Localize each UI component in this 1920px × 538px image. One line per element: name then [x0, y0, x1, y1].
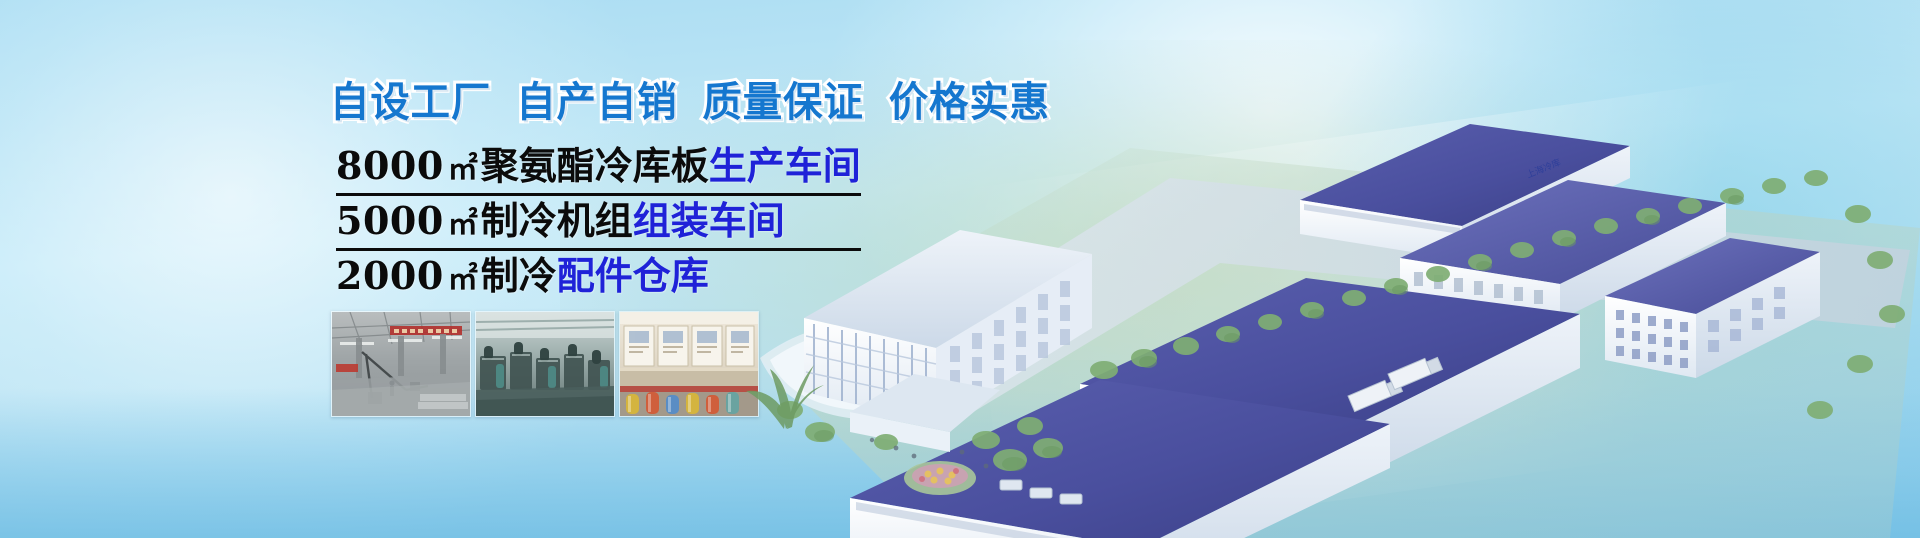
feature-line-3-highlight: 配件仓库	[557, 253, 709, 298]
feature-line-1-highlight: 生产车间	[709, 143, 861, 188]
feature-line-2-highlight: 组装车间	[633, 198, 785, 243]
headline-segment-3: 质量保证	[702, 78, 863, 126]
feature-line-3-number: 2000	[336, 253, 444, 298]
showroom-display-cabinets-photo	[619, 311, 759, 417]
refrigeration-compressor-units-photo	[475, 311, 615, 417]
feature-list: 8000㎡聚氨酯冷库板生产车间 5000㎡制冷机组组装车间 2000㎡制冷配件仓…	[336, 144, 861, 303]
feature-line-1-text: 聚氨酯冷库板	[481, 143, 709, 188]
headline: 自设工厂自产自销质量保证价格实惠	[330, 68, 1050, 128]
feature-line-3: 2000㎡制冷配件仓库	[336, 254, 861, 303]
feature-line-2-number: 5000	[336, 198, 444, 243]
feature-line-1-number: 8000	[336, 143, 444, 188]
photo-thumbnail-strip	[331, 311, 759, 417]
headline-segment-1: 自设工厂	[330, 78, 491, 126]
headline-segment-2: 自产自销	[516, 78, 677, 126]
feature-line-2: 5000㎡制冷机组组装车间	[336, 199, 861, 251]
feature-line-1: 8000㎡聚氨酯冷库板生产车间	[336, 144, 861, 196]
feature-line-3-unit: ㎡	[444, 262, 481, 297]
headline-segment-4: 价格实惠	[889, 78, 1050, 126]
feature-line-2-text: 制冷机组	[481, 198, 633, 243]
factory-workshop-interior-photo	[331, 311, 471, 417]
feature-line-2-unit: ㎡	[444, 207, 481, 242]
promo-banner: 上海冷库	[0, 0, 1920, 538]
foreground-plant-decoration	[740, 345, 830, 430]
feature-line-3-text: 制冷	[481, 253, 557, 298]
feature-line-1-unit: ㎡	[444, 152, 481, 187]
